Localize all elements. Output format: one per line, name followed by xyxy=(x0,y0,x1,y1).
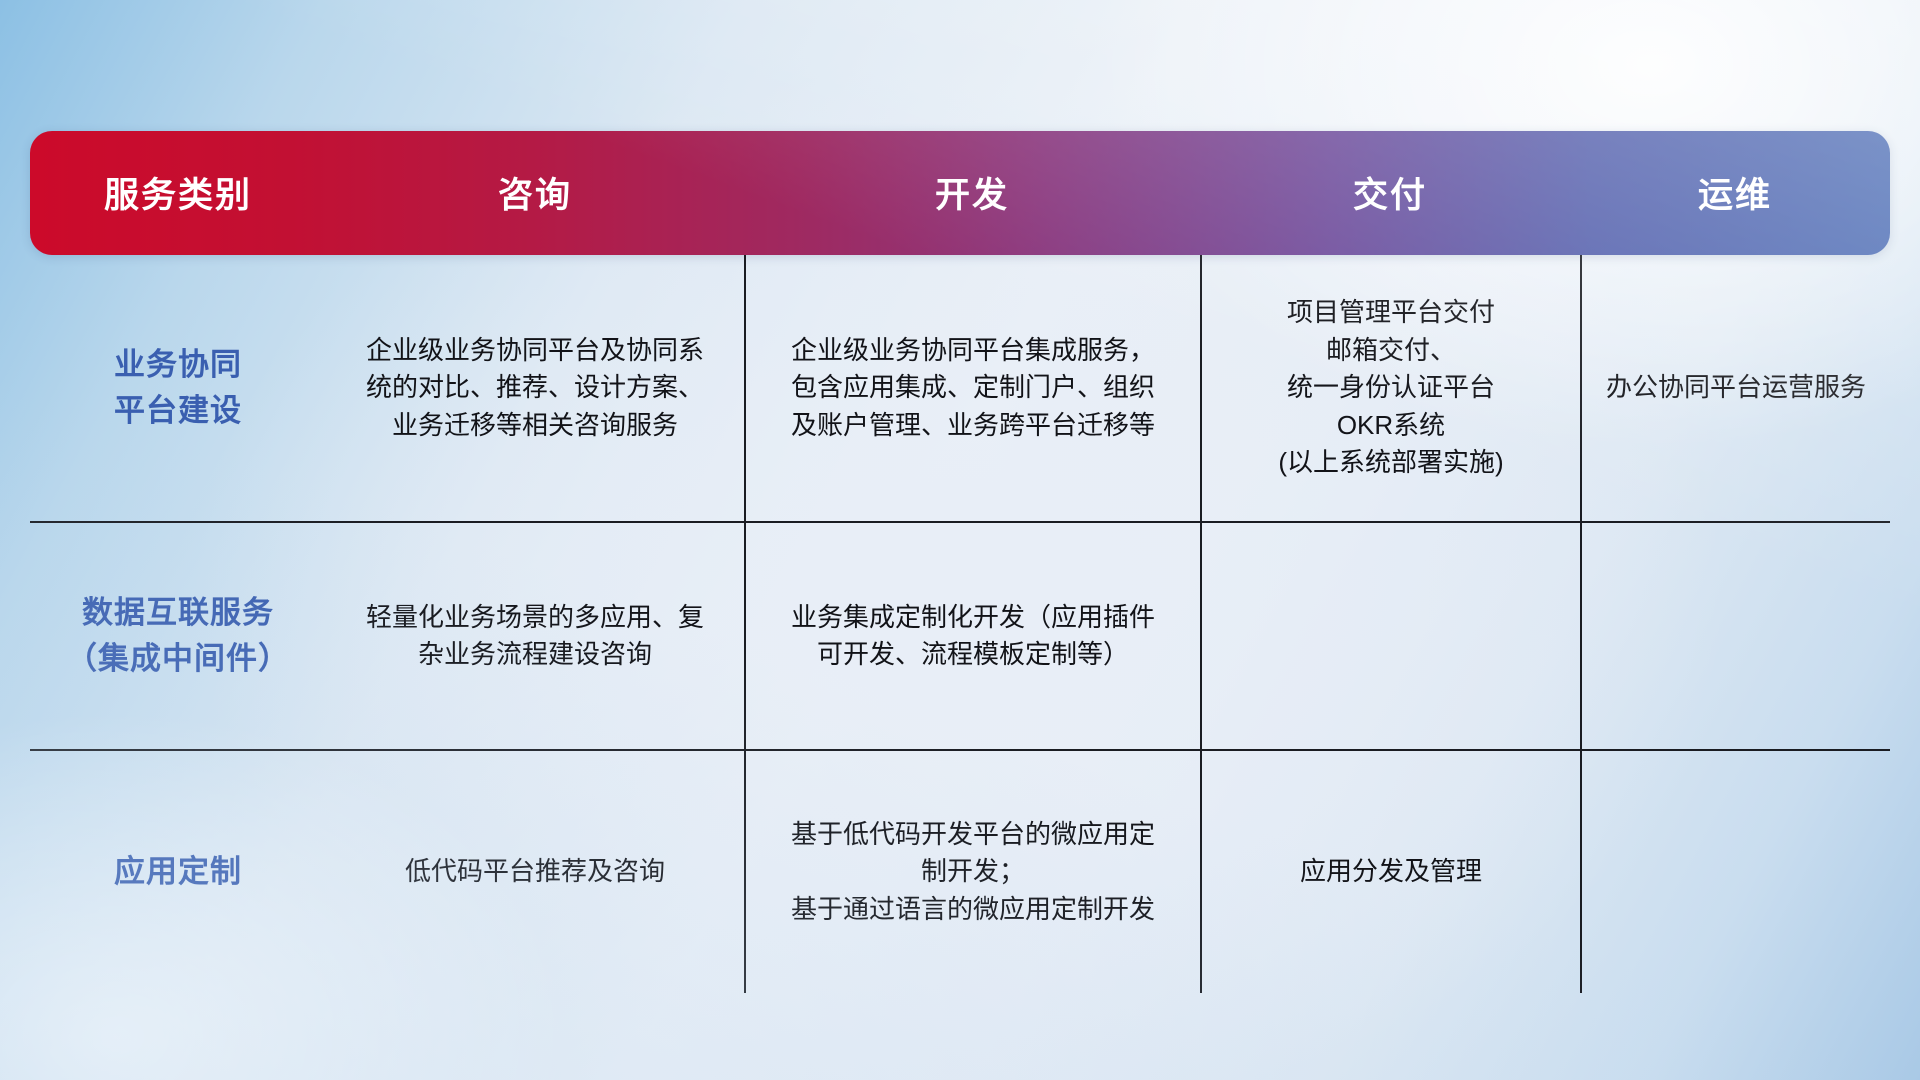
service-matrix-table: 服务类别 咨询 开发 交付 运维 业务协同 平台建设 企业级业务协同平台及协同系… xyxy=(30,131,1890,993)
cell-development-row2: 业务集成定制化开发（应用插件 可开发、流程模板定制等） xyxy=(744,523,1200,749)
table-row: 应用定制 低代码平台推荐及咨询 基于低代码开发平台的微应用定 制开发； 基于通过… xyxy=(30,749,1890,993)
cell-consulting-row3: 低代码平台推荐及咨询 xyxy=(326,751,744,993)
column-header-operations: 运维 xyxy=(1580,131,1890,255)
column-header-consulting: 咨询 xyxy=(326,131,744,255)
cell-category-row2: 数据互联服务 （集成中间件） xyxy=(30,523,326,749)
column-header-category: 服务类别 xyxy=(30,131,326,255)
table-body: 业务协同 平台建设 企业级业务协同平台及协同系 统的对比、推荐、设计方案、 业务… xyxy=(30,255,1890,993)
cell-consulting-row2: 轻量化业务场景的多应用、复 杂业务流程建设咨询 xyxy=(326,523,744,749)
cell-category-row3: 应用定制 xyxy=(30,751,326,993)
cell-consulting-row1: 企业级业务协同平台及协同系 统的对比、推荐、设计方案、 业务迁移等相关咨询服务 xyxy=(326,255,744,521)
cell-category-row1: 业务协同 平台建设 xyxy=(30,255,326,521)
cell-delivery-row1: 项目管理平台交付 邮箱交付、 统一身份认证平台 OKR系统 (以上系统部署实施) xyxy=(1200,255,1580,521)
table-row: 业务协同 平台建设 企业级业务协同平台及协同系 统的对比、推荐、设计方案、 业务… xyxy=(30,255,1890,521)
cell-development-row1: 企业级业务协同平台集成服务， 包含应用集成、定制门户、组织 及账户管理、业务跨平… xyxy=(744,255,1200,521)
cell-development-row3: 基于低代码开发平台的微应用定 制开发； 基于通过语言的微应用定制开发 xyxy=(744,751,1200,993)
cell-operations-row1: 办公协同平台运营服务 xyxy=(1580,255,1890,521)
cell-operations-row2 xyxy=(1580,523,1890,749)
column-header-delivery: 交付 xyxy=(1200,131,1580,255)
table-row: 数据互联服务 （集成中间件） 轻量化业务场景的多应用、复 杂业务流程建设咨询 业… xyxy=(30,521,1890,749)
column-header-development: 开发 xyxy=(744,131,1200,255)
cell-delivery-row2 xyxy=(1200,523,1580,749)
cell-delivery-row3: 应用分发及管理 xyxy=(1200,751,1580,993)
table-header-row: 服务类别 咨询 开发 交付 运维 xyxy=(30,131,1890,255)
cell-operations-row3 xyxy=(1580,751,1890,993)
slide-canvas: 服务类别 咨询 开发 交付 运维 业务协同 平台建设 企业级业务协同平台及协同系… xyxy=(0,0,1920,1080)
